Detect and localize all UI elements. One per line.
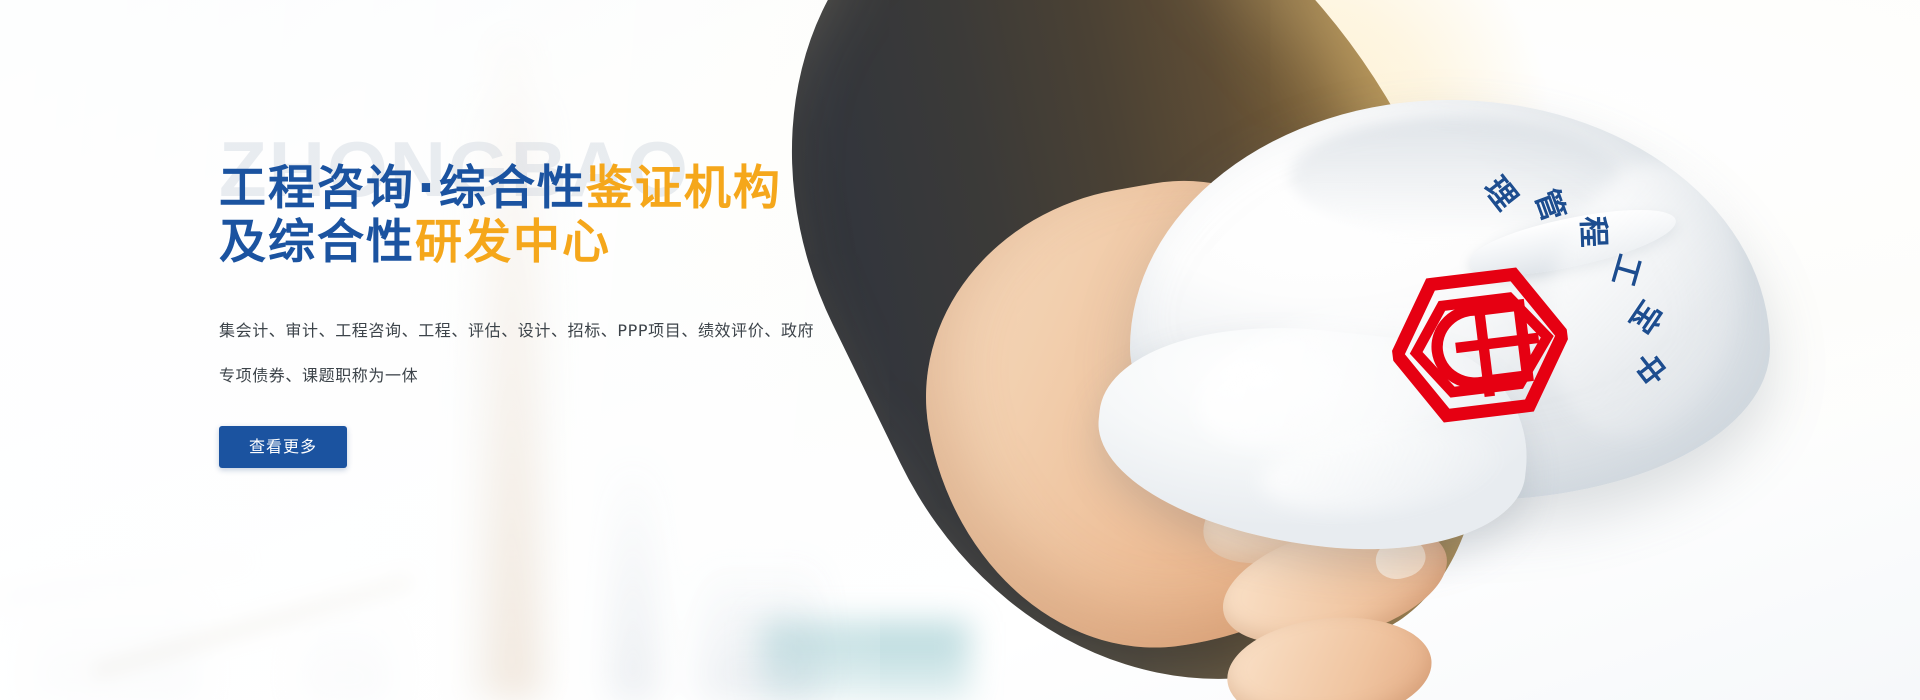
headline-line-1: 工程咨询·综合性鉴证机构: [219, 162, 1039, 216]
helmet-brand-char: 程: [1573, 215, 1619, 249]
headline-line2-orange: 研发中心: [415, 215, 611, 270]
white-hard-hat: 中宝工程管理: [1130, 100, 1770, 560]
headline-line-2: 及综合性研发中心: [219, 216, 1039, 270]
subtitle-text: 集会计、审计、工程咨询、工程、评估、设计、招标、PPP项目、绩效评价、政府专项债…: [219, 308, 819, 398]
headline-line1-orange: 鉴证机构: [586, 161, 782, 216]
headline-separator: ·: [415, 161, 439, 216]
view-more-button[interactable]: 查看更多: [219, 426, 347, 468]
hero-banner: 中宝工程管理 ZHONGBAO 工程咨询·综合性鉴证机构 及综合性研发中心 集会…: [0, 0, 1920, 700]
headline-line2-blue: 及综合性: [219, 215, 415, 270]
headline: 工程咨询·综合性鉴证机构 及综合性研发中心: [219, 162, 1039, 270]
hero-content: ZHONGBAO 工程咨询·综合性鉴证机构 及综合性研发中心 集会计、审计、工程…: [219, 110, 1039, 468]
headline-line1-blue: 工程咨询: [219, 161, 415, 216]
headline-line1-blue2: 综合性: [439, 161, 586, 216]
zhongbao-hexagon-logo: [1384, 262, 1576, 428]
